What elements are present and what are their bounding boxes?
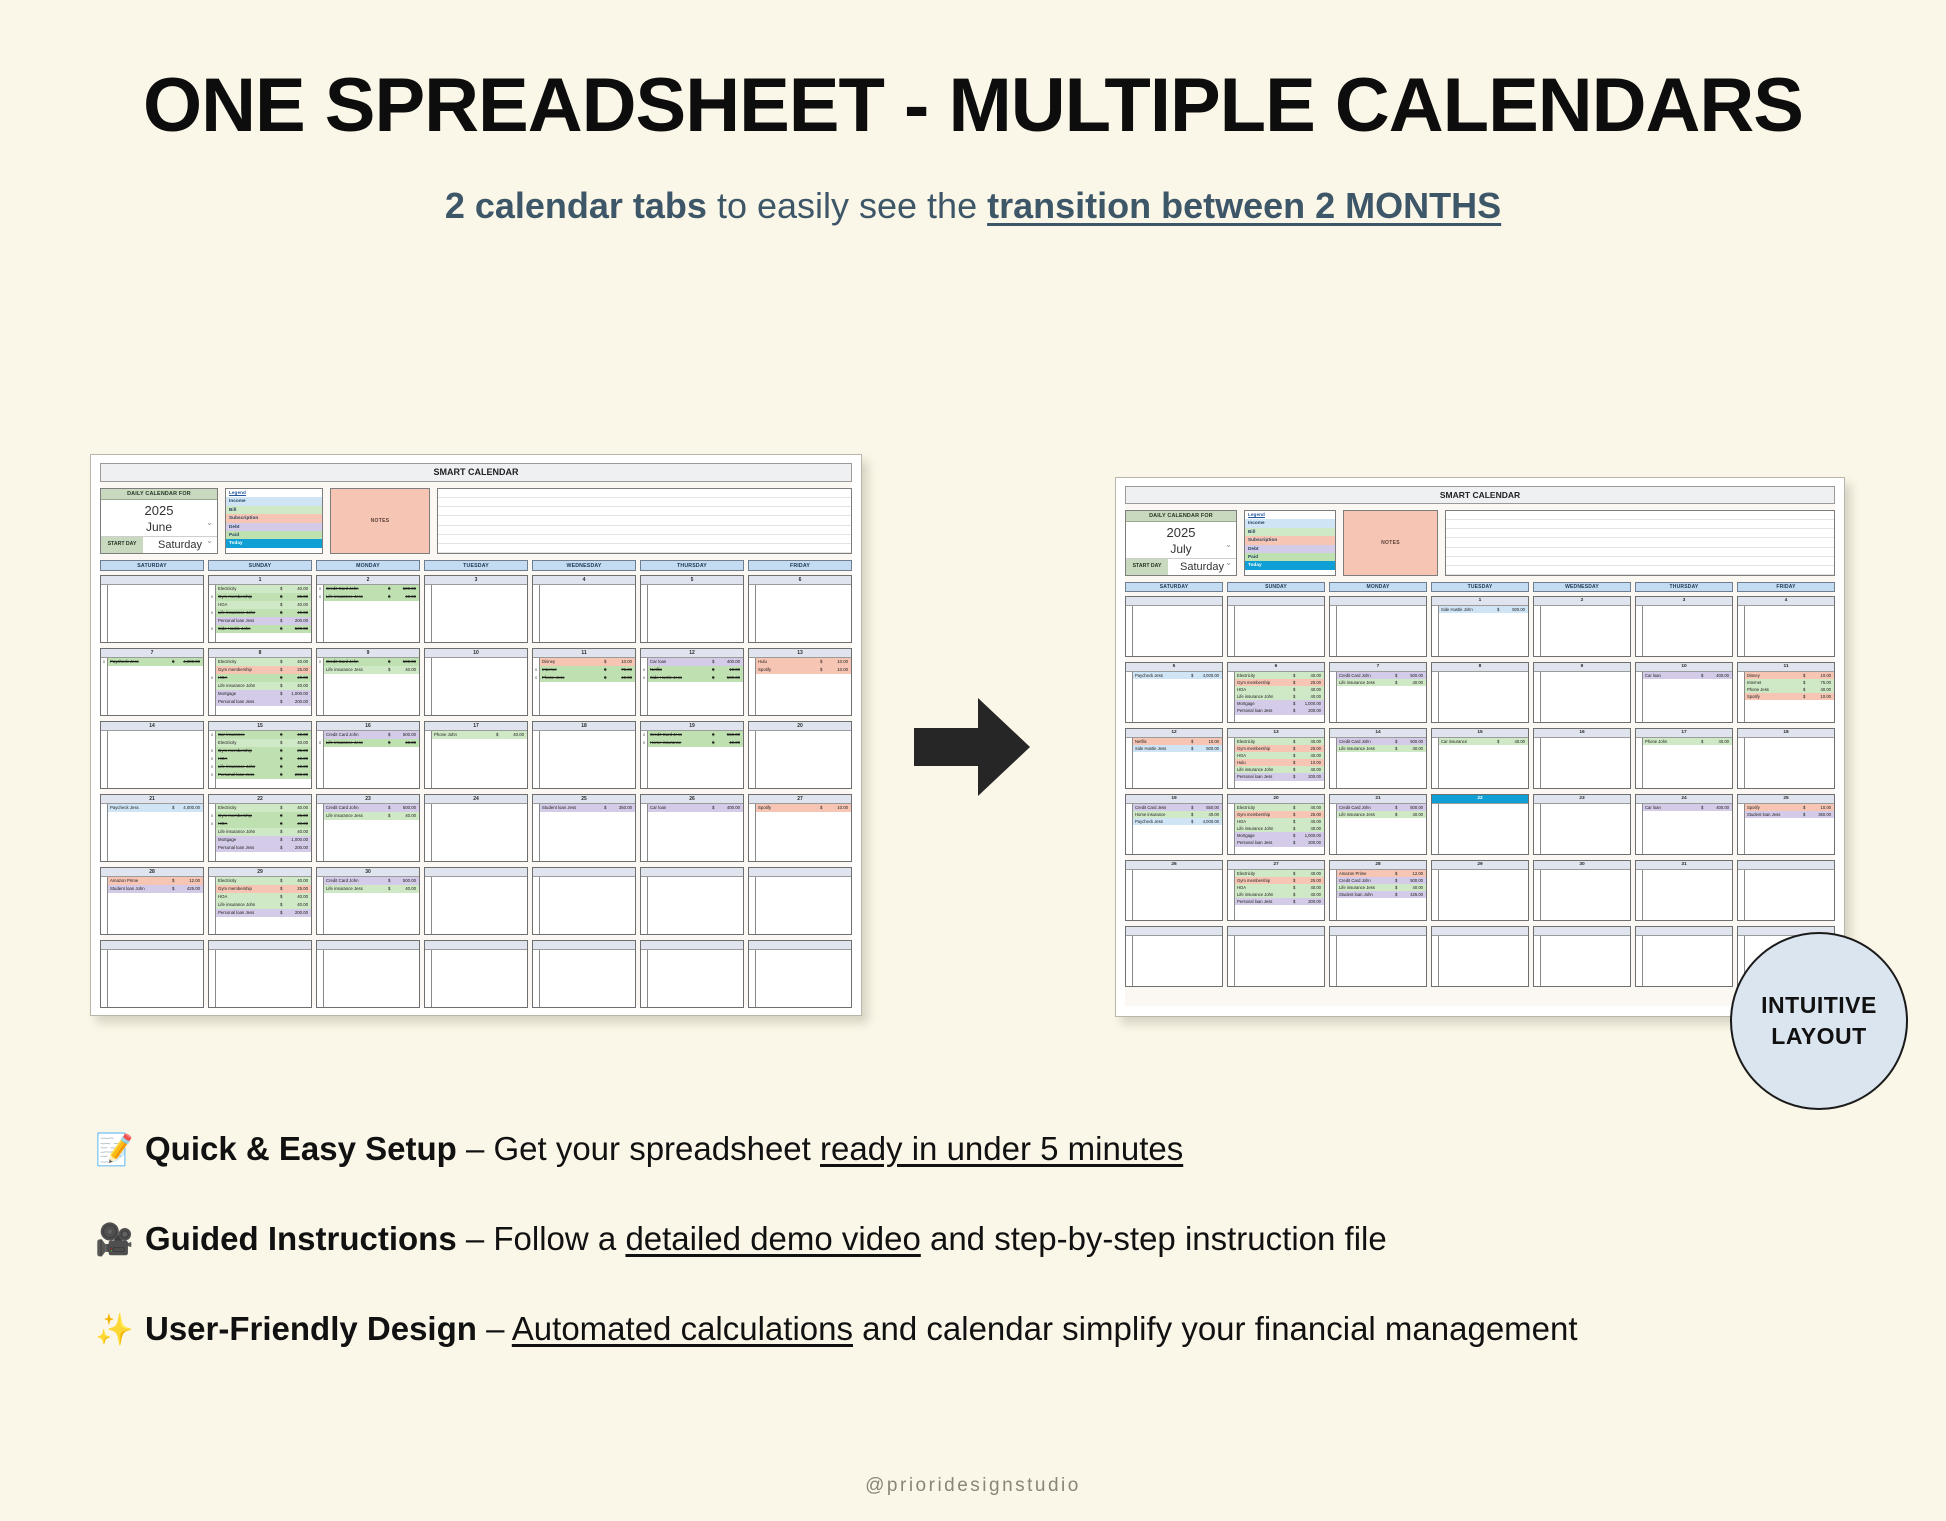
paid-check-mark[interactable]	[209, 885, 215, 893]
paid-checkbox-column[interactable]	[1228, 606, 1235, 657]
transaction-row[interactable]: Paycheck Jess$4,000.00	[108, 804, 203, 812]
transaction-row[interactable]: Electricity$40.00	[1235, 738, 1324, 745]
day-cell[interactable]: 5Paycheck Jess$4,000.00	[1125, 662, 1223, 723]
paid-checkbox-column[interactable]	[1432, 738, 1439, 789]
transaction-row[interactable]: Amazon Prime$12.00	[108, 877, 203, 885]
day-cell[interactable]	[640, 867, 744, 935]
day-cell[interactable]: 9	[1533, 662, 1631, 723]
transaction-row[interactable]: Side Hustle Jess$500.00	[648, 674, 743, 682]
day-cell[interactable]: 20Electricity$40.00Gym membership$25.00H…	[1227, 794, 1325, 855]
transaction-row[interactable]: Mortgage$1,000.00	[216, 836, 311, 844]
paid-checkbox-column[interactable]	[749, 658, 756, 715]
paid-check-mark[interactable]	[1228, 818, 1234, 825]
paid-check-mark[interactable]	[317, 885, 323, 893]
day-cell[interactable]: 17Phone John$40.00	[424, 721, 528, 789]
day-cell[interactable]: 21Paycheck Jess$4,000.00	[100, 794, 204, 862]
transaction-row[interactable]: Electricity$40.00	[216, 585, 311, 593]
transaction-row[interactable]: Life insurance Jess$40.00	[324, 812, 419, 820]
transaction-row[interactable]: Life insurance Jess$40.00	[324, 739, 419, 747]
paid-check-mark[interactable]	[1330, 745, 1336, 752]
paid-check-mark[interactable]	[1636, 738, 1642, 745]
transaction-row[interactable]: Student loan Jess$350.00	[1745, 811, 1834, 818]
transaction-row[interactable]: Electricity$40.00	[1235, 870, 1324, 877]
paid-check-mark[interactable]	[1738, 811, 1744, 818]
paid-checkbox-column[interactable]	[533, 950, 540, 1007]
day-cell[interactable]	[424, 867, 528, 935]
paid-checkbox-column[interactable]	[1636, 672, 1643, 723]
paid-checkbox-column[interactable]	[1330, 804, 1337, 855]
paid-checkbox-column[interactable]	[209, 950, 216, 1007]
day-cell[interactable]	[1329, 926, 1427, 987]
transaction-row[interactable]: Life insurance John$40.00	[216, 763, 311, 771]
transaction-row[interactable]: Life insurance John$40.00	[216, 901, 311, 909]
paid-checkbox-column[interactable]	[1228, 672, 1235, 723]
day-cell[interactable]: 7XPaycheck Jess$4,000.00	[100, 648, 204, 716]
transaction-row[interactable]: Life insurance Jess$40.00	[1337, 884, 1426, 891]
transaction-row[interactable]: Gym membership$25.00	[216, 593, 311, 601]
day-cell[interactable]: 7Credit Card John$500.00Life insurance J…	[1329, 662, 1427, 723]
paid-checkbox-column[interactable]	[1126, 936, 1133, 987]
paid-checkbox-column[interactable]	[1432, 672, 1439, 723]
paid-checkbox-column[interactable]	[1330, 936, 1337, 987]
transaction-row[interactable]: Netflix$10.00	[1133, 738, 1222, 745]
day-cell[interactable]: 24	[424, 794, 528, 862]
paid-check-mark[interactable]	[101, 804, 107, 812]
paid-check-mark[interactable]: X	[209, 747, 215, 755]
paid-check-mark[interactable]	[1330, 679, 1336, 686]
calendar-grid-june[interactable]: 1XXXElectricity$40.00Gym membership$25.0…	[100, 575, 852, 1008]
paid-check-mark[interactable]: X	[101, 658, 107, 666]
day-cell[interactable]: 11Disney$10.00Internet$75.00Phone Jess$4…	[1737, 662, 1835, 723]
paid-check-mark[interactable]	[1228, 870, 1234, 877]
paid-checkbox-column[interactable]	[1432, 936, 1439, 987]
transaction-row[interactable]: Student loan John$425.00	[108, 885, 203, 893]
paid-checkbox-column[interactable]	[101, 877, 108, 934]
paid-checkbox-column[interactable]	[641, 877, 648, 934]
transaction-row[interactable]: Home insurance$40.00	[648, 739, 743, 747]
day-cell[interactable]: 8	[1431, 662, 1529, 723]
paid-checkbox-column[interactable]	[533, 804, 540, 861]
transaction-row[interactable]: Life insurance Jess$40.00	[324, 593, 419, 601]
paid-check-mark[interactable]: X	[317, 585, 323, 593]
transaction-row[interactable]: Life insurance Jess$40.00	[324, 666, 419, 674]
day-cell[interactable]	[1431, 926, 1529, 987]
paid-checkbox-column[interactable]	[749, 804, 756, 861]
transaction-row[interactable]: Life insurance John$40.00	[1235, 891, 1324, 898]
transaction-row[interactable]: Credit Card John$500.00	[324, 658, 419, 666]
transaction-row[interactable]: Spotify$10.00	[1745, 804, 1834, 811]
transaction-row[interactable]: Disney$10.00	[1745, 672, 1834, 679]
transaction-row[interactable]: Personal loan Jess$200.00	[216, 771, 311, 779]
transaction-row[interactable]: Electricity$40.00	[1235, 672, 1324, 679]
calendar-setup-june[interactable]: DAILY CALENDAR FOR 2025 June START DAY S…	[100, 488, 218, 554]
paid-checkbox-column[interactable]	[1636, 606, 1643, 657]
paid-check-mark[interactable]	[209, 739, 215, 747]
transaction-row[interactable]: Personal loan Jess$200.00	[1235, 773, 1324, 780]
day-cell[interactable]: 3	[1635, 596, 1733, 657]
day-cell[interactable]: 31	[1635, 860, 1733, 921]
transaction-row[interactable]: Mortgage$1,000.00	[1235, 700, 1324, 707]
paid-check-mark[interactable]	[641, 804, 647, 812]
transaction-row[interactable]: Netflix$10.00	[648, 666, 743, 674]
paid-check-mark[interactable]	[1228, 700, 1234, 707]
transaction-row[interactable]: HOA$40.00	[1235, 818, 1324, 825]
day-cell[interactable]: 19XXCredit Card Jess$550.00Home insuranc…	[640, 721, 744, 789]
paid-check-mark[interactable]	[1126, 811, 1132, 818]
paid-check-mark[interactable]	[317, 812, 323, 820]
paid-checkbox-column[interactable]	[1432, 606, 1439, 657]
day-cell[interactable]	[208, 940, 312, 1008]
day-cell[interactable]: 28Amazon Prime$12.00Credit Card John$500…	[1329, 860, 1427, 921]
paid-checkbox-column[interactable]	[533, 877, 540, 934]
transaction-row[interactable]: HOA$40.00	[216, 674, 311, 682]
transaction-row[interactable]: Gym membership$25.00	[1235, 679, 1324, 686]
paid-check-mark[interactable]	[1228, 832, 1234, 839]
paid-checkbox-column[interactable]	[1330, 672, 1337, 723]
paid-checkbox-column[interactable]	[1432, 870, 1439, 921]
transaction-row[interactable]: Gym membership$25.00	[1235, 877, 1324, 884]
paid-check-mark[interactable]	[1738, 686, 1744, 693]
paid-checkbox-column[interactable]	[317, 950, 324, 1007]
paid-check-mark[interactable]	[101, 877, 107, 885]
transaction-row[interactable]: Credit Card John$500.00	[1337, 738, 1426, 745]
paid-checkbox-column[interactable]	[1126, 738, 1133, 789]
day-cell[interactable]: 17Phone John$40.00	[1635, 728, 1733, 789]
paid-checkbox-column[interactable]: XX	[641, 731, 648, 788]
paid-checkbox-column[interactable]	[1738, 606, 1745, 657]
transaction-row[interactable]: HOA$40.00	[216, 755, 311, 763]
paid-check-mark[interactable]	[1228, 745, 1234, 752]
transaction-row[interactable]: Credit Card John$500.00	[1337, 672, 1426, 679]
paid-checkbox-column[interactable]: XXX	[209, 585, 216, 642]
paid-check-mark[interactable]: X	[209, 755, 215, 763]
transaction-row[interactable]: Life insurance John$40.00	[1235, 825, 1324, 832]
day-cell[interactable]	[1227, 926, 1325, 987]
paid-check-mark[interactable]: X	[641, 674, 647, 682]
paid-checkbox-column[interactable]	[1636, 738, 1643, 789]
paid-check-mark[interactable]	[1126, 672, 1132, 679]
day-cell[interactable]: 30	[1533, 860, 1631, 921]
paid-checkbox-column[interactable]	[1228, 936, 1235, 987]
day-cell[interactable]	[748, 867, 852, 935]
transaction-row[interactable]: Amazon Prime$12.00	[1337, 870, 1426, 877]
paid-check-mark[interactable]: X	[209, 674, 215, 682]
day-cell[interactable]: 3	[424, 575, 528, 643]
transaction-row[interactable]: Hulu$10.00	[756, 658, 851, 666]
day-cell[interactable]: 26Car loan$400.00	[640, 794, 744, 862]
paid-check-mark[interactable]: X	[209, 625, 215, 633]
transaction-row[interactable]: HOA$40.00	[216, 820, 311, 828]
paid-checkbox-column[interactable]	[533, 731, 540, 788]
transaction-row[interactable]: Student loan Jess$350.00	[540, 804, 635, 812]
day-cell[interactable]	[1635, 926, 1733, 987]
paid-check-mark[interactable]	[1330, 738, 1336, 745]
paid-check-mark[interactable]	[1228, 679, 1234, 686]
day-cell[interactable]: 16XCredit Card John$500.00Life insurance…	[316, 721, 420, 789]
transaction-row[interactable]: Spotify$10.00	[1745, 693, 1834, 700]
transaction-row[interactable]: Life insurance Jess$40.00	[1337, 745, 1426, 752]
paid-check-mark[interactable]	[209, 698, 215, 706]
transaction-row[interactable]: Spotify$10.00	[756, 804, 851, 812]
paid-check-mark[interactable]	[1228, 898, 1234, 905]
paid-checkbox-column[interactable]	[1738, 672, 1745, 723]
paid-check-mark[interactable]	[1228, 707, 1234, 714]
notes-lines-june[interactable]	[437, 488, 852, 554]
paid-checkbox-column[interactable]	[209, 877, 216, 934]
day-cell[interactable]: 12XXCar loan$400.00Netflix$10.00Side Hus…	[640, 648, 744, 716]
paid-check-mark[interactable]	[1636, 804, 1642, 811]
day-cell[interactable]: 15XXXXXCar insurance$40.00Electricity$40…	[208, 721, 312, 789]
transaction-row[interactable]: Personal loan Jess$200.00	[1235, 839, 1324, 846]
start-day-select-june[interactable]: Saturday	[143, 537, 217, 553]
transaction-row[interactable]: Credit Card John$500.00	[1337, 804, 1426, 811]
paid-check-mark[interactable]: X	[209, 763, 215, 771]
paid-check-mark[interactable]	[1228, 766, 1234, 773]
transaction-row[interactable]: Home insurance$40.00	[1133, 811, 1222, 818]
day-cell[interactable]: 27Electricity$40.00Gym membership$25.00H…	[1227, 860, 1325, 921]
transaction-row[interactable]: Credit Card Jess$550.00	[648, 731, 743, 739]
notes-box-june[interactable]: NOTES	[330, 488, 430, 554]
day-cell[interactable]	[1533, 926, 1631, 987]
day-cell[interactable]: 22	[1431, 794, 1529, 855]
transaction-row[interactable]: Electricity$40.00	[216, 739, 311, 747]
year-input-june[interactable]: 2025	[101, 500, 217, 519]
paid-check-mark[interactable]	[1228, 686, 1234, 693]
transaction-row[interactable]: HOA$40.00	[1235, 752, 1324, 759]
paid-checkbox-column[interactable]	[533, 585, 540, 642]
day-cell[interactable]: 4	[532, 575, 636, 643]
transaction-row[interactable]: Phone Jess$40.00	[540, 674, 635, 682]
transaction-row[interactable]: Car loan$400.00	[1643, 804, 1732, 811]
transaction-row[interactable]: Credit Card John$500.00	[324, 731, 419, 739]
paid-checkbox-column[interactable]	[1636, 870, 1643, 921]
paid-check-mark[interactable]: X	[641, 666, 647, 674]
paid-check-mark[interactable]	[317, 666, 323, 674]
paid-check-mark[interactable]	[1228, 811, 1234, 818]
paid-check-mark[interactable]	[209, 828, 215, 836]
paid-check-mark[interactable]: X	[533, 674, 539, 682]
paid-check-mark[interactable]	[1228, 884, 1234, 891]
paid-checkbox-column[interactable]	[1534, 870, 1541, 921]
day-cell[interactable]	[640, 940, 744, 1008]
day-cell[interactable]: 15Car insurance$40.00	[1431, 728, 1529, 789]
paid-check-mark[interactable]	[1126, 738, 1132, 745]
paid-check-mark[interactable]	[1228, 672, 1234, 679]
paid-checkbox-column[interactable]	[1738, 738, 1745, 789]
transaction-row[interactable]: HOA$40.00	[216, 893, 311, 901]
transaction-row[interactable]: Gym membership$25.00	[216, 747, 311, 755]
paid-check-mark[interactable]: X	[209, 812, 215, 820]
day-cell[interactable]: 27Spotify$10.00	[748, 794, 852, 862]
day-cell[interactable]	[1125, 596, 1223, 657]
transaction-row[interactable]: Car loan$400.00	[648, 804, 743, 812]
month-select-june[interactable]: June	[101, 519, 217, 536]
day-cell[interactable]	[1125, 926, 1223, 987]
day-cell[interactable]: 18	[1737, 728, 1835, 789]
transaction-row[interactable]: Internet$75.00	[540, 666, 635, 674]
paid-checkbox-column[interactable]	[1126, 870, 1133, 921]
transaction-row[interactable]: Electricity$40.00	[216, 877, 311, 885]
paid-checkbox-column[interactable]	[749, 950, 756, 1007]
paid-check-mark[interactable]	[1228, 752, 1234, 759]
start-day-select-july[interactable]: Saturday	[1168, 559, 1236, 575]
paid-checkbox-column[interactable]: XX	[209, 804, 216, 861]
paid-checkbox-column[interactable]	[641, 804, 648, 861]
transaction-row[interactable]: Credit Card John$500.00	[324, 804, 419, 812]
transaction-row[interactable]: Car insurance$40.00	[1439, 738, 1528, 745]
paid-check-mark[interactable]: X	[317, 739, 323, 747]
paid-check-mark[interactable]	[1330, 811, 1336, 818]
paid-check-mark[interactable]: X	[209, 820, 215, 828]
transaction-row[interactable]: Paycheck Jess$4,000.00	[1133, 818, 1222, 825]
transaction-row[interactable]: Credit Card John$500.00	[324, 877, 419, 885]
day-cell[interactable]: 9XCredit Card John$500.00Life insurance …	[316, 648, 420, 716]
day-cell[interactable]: 29Electricity$40.00Gym membership$25.00H…	[208, 867, 312, 935]
paid-check-mark[interactable]	[1432, 738, 1438, 745]
paid-check-mark[interactable]	[209, 690, 215, 698]
paid-checkbox-column[interactable]	[1228, 870, 1235, 921]
paid-check-mark[interactable]	[209, 836, 215, 844]
transaction-row[interactable]: Phone Jess$40.00	[1745, 686, 1834, 693]
paid-checkbox-column[interactable]	[1738, 870, 1745, 921]
paid-checkbox-column[interactable]	[101, 731, 108, 788]
transaction-row[interactable]: Life insurance Jess$40.00	[324, 885, 419, 893]
day-cell[interactable]: 23	[1533, 794, 1631, 855]
day-cell[interactable]: 25Spotify$10.00Student loan Jess$350.00	[1737, 794, 1835, 855]
transaction-row[interactable]: Student loan John$425.00	[1337, 891, 1426, 898]
paid-checkbox-column[interactable]	[425, 950, 432, 1007]
paid-checkbox-column[interactable]	[1228, 738, 1235, 789]
day-cell[interactable]	[532, 867, 636, 935]
paid-check-mark[interactable]: X	[209, 593, 215, 601]
paid-check-mark[interactable]	[317, 804, 323, 812]
paid-checkbox-column[interactable]	[101, 804, 108, 861]
paid-checkbox-column[interactable]	[425, 658, 432, 715]
day-cell[interactable]: 19Credit Card Jess$550.00Home insurance$…	[1125, 794, 1223, 855]
paid-checkbox-column[interactable]	[1534, 738, 1541, 789]
paid-check-mark[interactable]	[209, 658, 215, 666]
day-cell[interactable]: 8XElectricity$40.00Gym membership$25.00H…	[208, 648, 312, 716]
transaction-row[interactable]: HOA$40.00	[1235, 686, 1324, 693]
paid-check-mark[interactable]	[209, 585, 215, 593]
paid-check-mark[interactable]	[1228, 891, 1234, 898]
day-cell[interactable]: 2	[1533, 596, 1631, 657]
paid-checkbox-column[interactable]: X	[209, 658, 216, 715]
paid-check-mark[interactable]	[209, 901, 215, 909]
paid-check-mark[interactable]	[209, 893, 215, 901]
paid-check-mark[interactable]	[317, 877, 323, 885]
day-cell[interactable]: 6Electricity$40.00Gym membership$25.00HO…	[1227, 662, 1325, 723]
day-cell[interactable]: 6	[748, 575, 852, 643]
transaction-row[interactable]: Gym membership$25.00	[216, 666, 311, 674]
day-cell[interactable]: 29	[1431, 860, 1529, 921]
day-cell[interactable]	[532, 940, 636, 1008]
transaction-row[interactable]: Paycheck Jess$4,000.00	[1133, 672, 1222, 679]
paid-check-mark[interactable]: X	[317, 593, 323, 601]
paid-checkbox-column[interactable]: X	[317, 658, 324, 715]
transaction-row[interactable]: Electricity$40.00	[1235, 804, 1324, 811]
paid-checkbox-column[interactable]	[1330, 738, 1337, 789]
notes-box-july[interactable]: NOTES	[1343, 510, 1438, 576]
transaction-row[interactable]: Personal loan Jess$200.00	[216, 844, 311, 852]
day-cell[interactable]	[748, 940, 852, 1008]
transaction-row[interactable]: Personal loan Jess$200.00	[216, 909, 311, 917]
paid-checkbox-column[interactable]	[425, 585, 432, 642]
paid-check-mark[interactable]: X	[209, 731, 215, 739]
paid-check-mark[interactable]	[209, 666, 215, 674]
day-cell[interactable]: 14	[100, 721, 204, 789]
day-cell[interactable]: 28Amazon Prime$12.00Student loan John$42…	[100, 867, 204, 935]
paid-checkbox-column[interactable]	[317, 804, 324, 861]
transaction-row[interactable]: Life insurance Jess$40.00	[1337, 811, 1426, 818]
paid-checkbox-column[interactable]: X	[101, 658, 108, 715]
paid-check-mark[interactable]	[209, 804, 215, 812]
transaction-row[interactable]: Life insurance John$40.00	[216, 828, 311, 836]
transaction-row[interactable]: Life insurance John$40.00	[216, 609, 311, 617]
paid-checkbox-column[interactable]	[317, 877, 324, 934]
paid-check-mark[interactable]	[1228, 825, 1234, 832]
transaction-row[interactable]: Gym membership$25.00	[216, 885, 311, 893]
day-cell[interactable]: 11XXDisney$10.00Internet$75.00Phone Jess…	[532, 648, 636, 716]
paid-check-mark[interactable]	[1738, 693, 1744, 700]
paid-checkbox-column[interactable]	[425, 804, 432, 861]
transaction-row[interactable]: Mortgage$1,000.00	[1235, 832, 1324, 839]
paid-check-mark[interactable]	[1330, 870, 1336, 877]
day-cell[interactable]: 30Credit Card John$500.00Life insurance …	[316, 867, 420, 935]
day-cell[interactable]: 23Credit Card John$500.00Life insurance …	[316, 794, 420, 862]
transaction-row[interactable]: Gym membership$25.00	[216, 812, 311, 820]
transaction-row[interactable]: Phone John$40.00	[432, 731, 527, 739]
paid-check-mark[interactable]: X	[533, 666, 539, 674]
paid-check-mark[interactable]	[1228, 773, 1234, 780]
paid-checkbox-column[interactable]: XXXXX	[209, 731, 216, 788]
transaction-row[interactable]: Car loan$400.00	[1643, 672, 1732, 679]
day-cell[interactable]: 25Student loan Jess$350.00	[532, 794, 636, 862]
paid-checkbox-column[interactable]	[101, 585, 108, 642]
transaction-row[interactable]: Personal loan Jess$200.00	[216, 698, 311, 706]
day-cell[interactable]: 20	[748, 721, 852, 789]
day-cell[interactable]: 21Credit Card John$500.00Life insurance …	[1329, 794, 1427, 855]
paid-check-mark[interactable]	[209, 682, 215, 690]
paid-checkbox-column[interactable]	[425, 731, 432, 788]
paid-checkbox-column[interactable]	[1738, 804, 1745, 855]
paid-checkbox-column[interactable]	[1636, 936, 1643, 987]
day-cell[interactable]	[1227, 596, 1325, 657]
day-cell[interactable]: 2XXCredit Card John$500.00Life insurance…	[316, 575, 420, 643]
paid-check-mark[interactable]: X	[641, 739, 647, 747]
transaction-row[interactable]: Hulu$10.00	[1235, 759, 1324, 766]
paid-check-mark[interactable]	[1228, 759, 1234, 766]
transaction-row[interactable]: Spotify$10.00	[756, 666, 851, 674]
day-cell[interactable]: 16	[1533, 728, 1631, 789]
transaction-row[interactable]: Personal loan Jess$200.00	[1235, 898, 1324, 905]
paid-check-mark[interactable]	[1228, 877, 1234, 884]
paid-check-mark[interactable]	[1228, 839, 1234, 846]
paid-check-mark[interactable]	[209, 601, 215, 609]
transaction-row[interactable]: Gym membership$25.00	[1235, 811, 1324, 818]
paid-checkbox-column[interactable]: XX	[317, 585, 324, 642]
paid-checkbox-column[interactable]: XX	[533, 658, 540, 715]
day-cell[interactable]: 22XXElectricity$40.00Gym membership$25.0…	[208, 794, 312, 862]
day-cell[interactable]: 1XXXElectricity$40.00Gym membership$25.0…	[208, 575, 312, 643]
paid-check-mark[interactable]	[1330, 877, 1336, 884]
transaction-row[interactable]: Life insurance John$40.00	[216, 682, 311, 690]
transaction-row[interactable]: Credit Card John$500.00	[1337, 877, 1426, 884]
paid-checkbox-column[interactable]: X	[317, 731, 324, 788]
paid-checkbox-column[interactable]	[1534, 606, 1541, 657]
paid-check-mark[interactable]	[1228, 738, 1234, 745]
transaction-row[interactable]: Side Hustle Jess$500.00	[1133, 745, 1222, 752]
